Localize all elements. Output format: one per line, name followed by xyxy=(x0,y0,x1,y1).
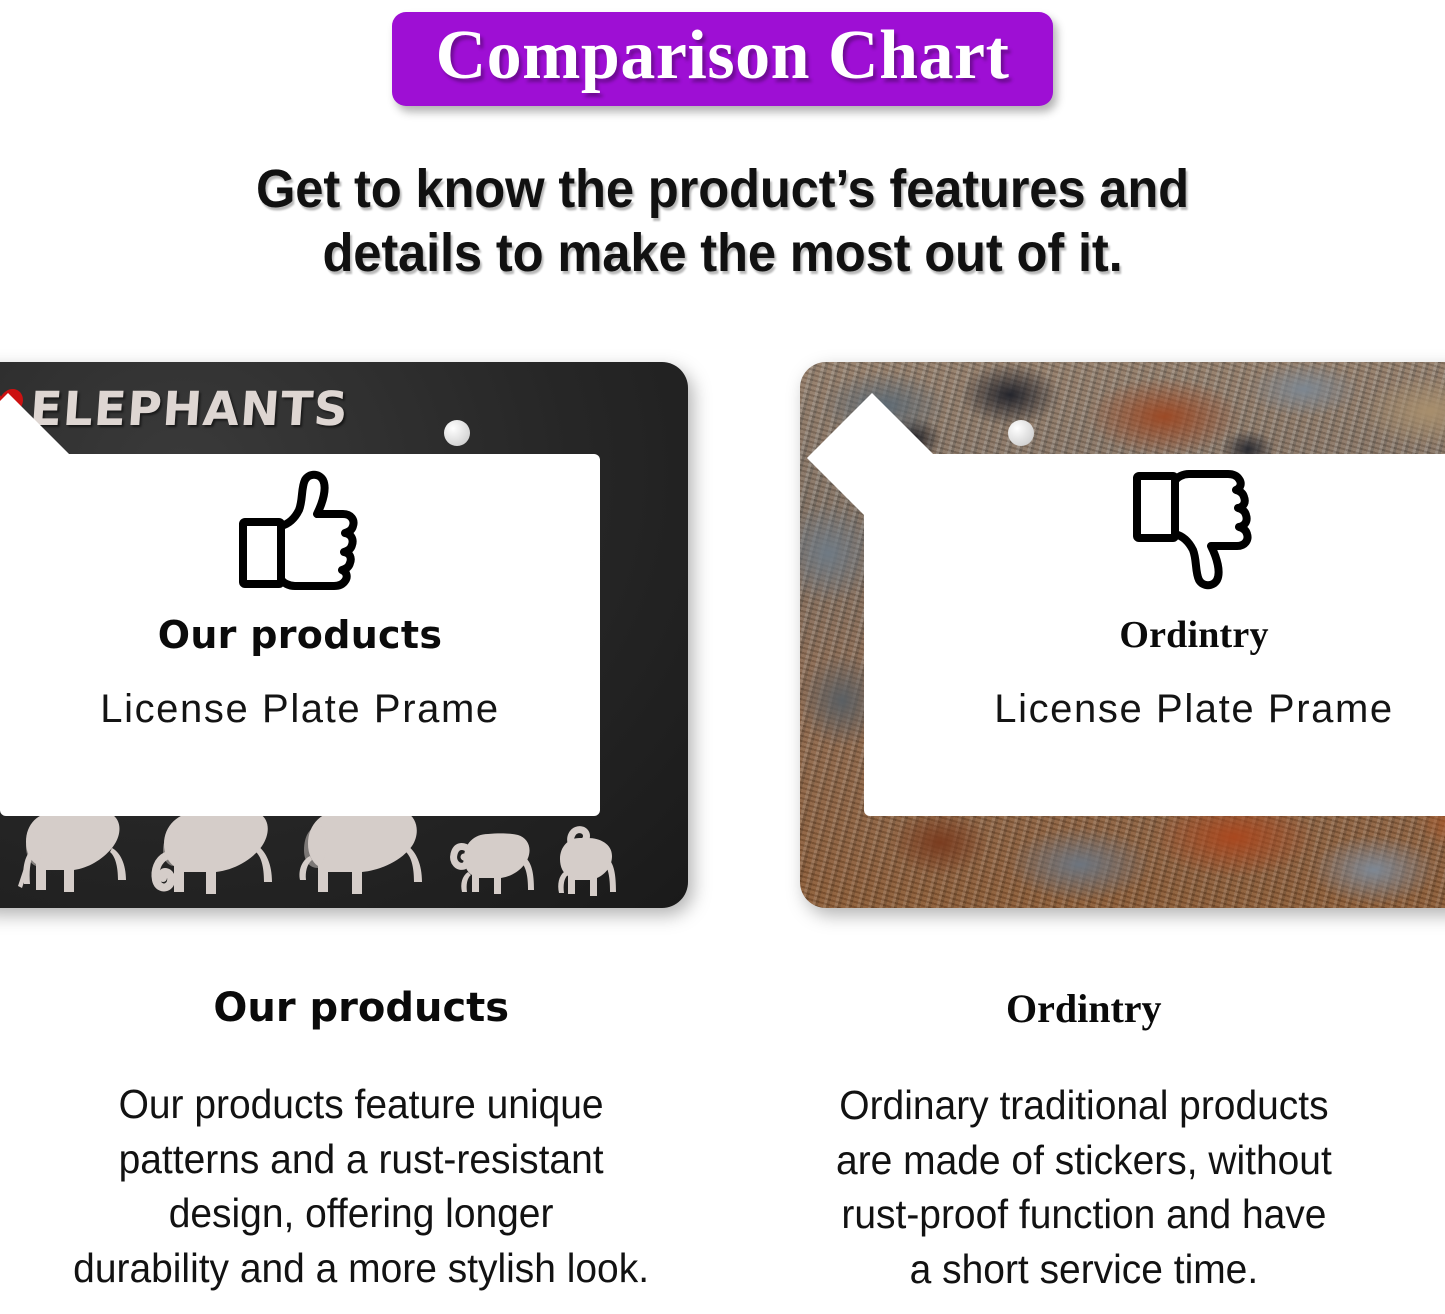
title-banner-container: Comparison Chart xyxy=(0,12,1445,106)
comparison-body-line: Our products feature unique xyxy=(73,1077,649,1132)
comparison-chart-page: Comparison Chart Get to know the product… xyxy=(0,0,1445,1314)
our-product-license-plate-frame: ELEPHANTS xyxy=(0,362,688,908)
page-title: Comparison Chart xyxy=(436,18,1010,94)
mounting-hole-right xyxy=(1008,420,1034,446)
subtitle-line-1: Get to know the product’s features and xyxy=(156,158,1289,222)
title-banner: Comparison Chart xyxy=(392,12,1054,106)
comparison-body-ordintry: Ordinary traditional products are made o… xyxy=(836,1078,1332,1296)
plate-top-band: ELEPHANTS xyxy=(0,376,688,442)
product-frames-row: ELEPHANTS xyxy=(0,356,1445,916)
comparison-body-line: Ordinary traditional products xyxy=(836,1078,1332,1133)
comparison-heading-ordintry: Ordintry xyxy=(1006,985,1162,1032)
comparison-body-line: are made of stickers, without xyxy=(836,1133,1332,1188)
comparison-heading-our-products: Our products xyxy=(213,985,509,1031)
frame-body-rusted: Ordintry License Plate Prame xyxy=(800,362,1445,908)
comparison-column-ordintry: Ordintry Ordinary traditional products a… xyxy=(723,985,1445,1314)
comparison-body-line: a short service time. xyxy=(836,1242,1332,1297)
comparison-body-line: rust-proof function and have xyxy=(836,1187,1332,1242)
comparison-text-row: Our products Our products feature unique… xyxy=(0,985,1445,1314)
frame-body-black: ELEPHANTS xyxy=(0,362,688,908)
mounting-hole-left xyxy=(444,420,470,446)
comparison-body-line: design, offering longer xyxy=(73,1186,649,1241)
comparison-body-line: durability and a more stylish look. xyxy=(73,1241,649,1296)
plate-slogan-text: ELEPHANTS xyxy=(28,382,350,437)
subtitle-line-2: details to make the most out of it. xyxy=(156,222,1289,286)
comparison-body-line: patterns and a rust-resistant xyxy=(73,1132,649,1187)
ordinary-product-license-plate-frame: Ordintry License Plate Prame xyxy=(800,362,1445,908)
comparison-column-our-products: Our products Our products feature unique… xyxy=(0,985,723,1314)
comparison-body-our-products: Our products feature unique patterns and… xyxy=(73,1077,649,1295)
plate-inner-cutout-right xyxy=(864,454,1445,816)
page-subtitle: Get to know the product’s features and d… xyxy=(43,158,1401,285)
plate-inner-cutout-left xyxy=(0,454,600,816)
